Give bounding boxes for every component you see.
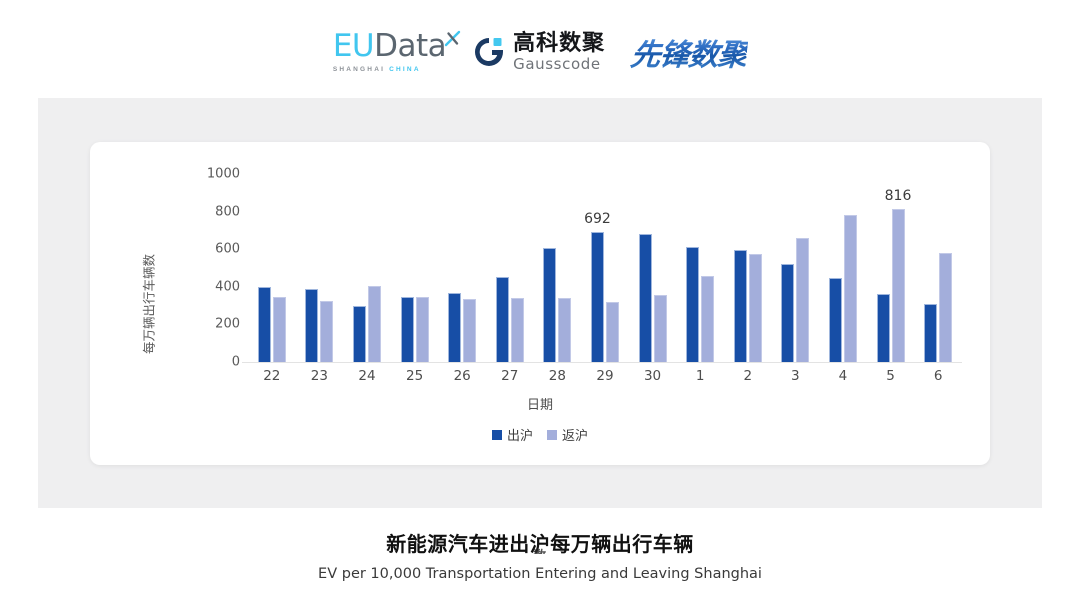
bar-back[interactable]	[654, 295, 667, 362]
x-axis-tick: 29	[581, 368, 629, 384]
bar-out[interactable]	[829, 278, 842, 362]
gausscode-wordmark: 高科数聚 Gausscode	[513, 33, 605, 72]
bar-group: 692	[581, 174, 629, 362]
bar-back[interactable]	[558, 298, 571, 362]
bar-group	[534, 174, 582, 362]
caption: 新能源汽车进出沪每万辆出行车辆 数 EV per 10,000 Transpor…	[0, 528, 1080, 582]
x-axis-tick: 28	[534, 368, 582, 384]
bar-group	[676, 174, 724, 362]
bar-out[interactable]	[401, 297, 414, 362]
evdata-wordmark-ev: EU	[333, 28, 374, 64]
bar-groups: 692816	[248, 174, 962, 362]
x-axis-tick: 6	[914, 368, 962, 384]
legend-swatch-out	[492, 430, 502, 440]
bar-out[interactable]	[305, 289, 318, 362]
x-axis-tick: 1	[676, 368, 724, 384]
x-axis-tick: 23	[296, 368, 344, 384]
y-axis-tick: 1000	[194, 167, 240, 182]
bar-group	[724, 174, 772, 362]
bar-out[interactable]	[543, 248, 556, 362]
bar-group	[772, 174, 820, 362]
bar-group	[391, 174, 439, 362]
x-axis-tick: 4	[819, 368, 867, 384]
x-axis-tick: 30	[629, 368, 677, 384]
gausscode-logo: 高科数聚 Gausscode	[472, 33, 605, 72]
bar-back[interactable]	[416, 297, 429, 362]
bar-group	[819, 174, 867, 362]
bar-group	[296, 174, 344, 362]
bar-back[interactable]	[606, 302, 619, 362]
evdata-tagline: SHANGHAI CHINA	[333, 66, 421, 73]
gausscode-name-cn: 高科数聚	[513, 33, 605, 55]
legend-item-back[interactable]: 返沪	[547, 425, 588, 444]
bar-out[interactable]	[496, 277, 509, 362]
bar-value-label: 816	[885, 188, 912, 204]
legend-swatch-back	[547, 430, 557, 440]
bar-back[interactable]	[273, 297, 286, 362]
evdata-wordmark: EUData	[333, 31, 446, 62]
plot-area: 692816	[248, 174, 962, 362]
x-axis-tick: 27	[486, 368, 534, 384]
bar-out[interactable]	[639, 234, 652, 362]
x-axis-label: 日期	[90, 394, 990, 413]
bar-out[interactable]	[877, 294, 890, 362]
bar-out[interactable]	[781, 264, 794, 362]
gausscode-name-en: Gausscode	[513, 57, 605, 72]
bar-back[interactable]	[463, 299, 476, 362]
x-axis-tick: 2	[724, 368, 772, 384]
bar-value-label: 692	[584, 211, 611, 227]
y-axis-tick: 200	[194, 317, 240, 332]
bar-chart: 每万辆出行车辆数 10008006004002000 692816 222324…	[90, 142, 990, 465]
y-axis-tick: 400	[194, 279, 240, 294]
bar-back[interactable]	[844, 215, 857, 362]
x-axis-tick: 22	[248, 368, 296, 384]
logo-bar: EUData SHANGHAI CHINA 高科数聚 Gausscode 先锋数…	[0, 0, 1080, 96]
bar-out[interactable]	[924, 304, 937, 362]
bar-back[interactable]	[749, 254, 762, 362]
x-axis-tick: 3	[772, 368, 820, 384]
xianfeng-logo: 先锋数聚	[629, 30, 750, 74]
bar-group	[248, 174, 296, 362]
bar-out[interactable]	[353, 306, 366, 362]
x-axis-tick: 5	[867, 368, 915, 384]
caption-title-cn: 新能源汽车进出沪每万辆出行车辆 数	[0, 528, 1080, 557]
chart-panel: 每万辆出行车辆数 10008006004002000 692816 222324…	[38, 98, 1042, 508]
chart-legend: 出沪 返沪	[90, 425, 990, 444]
bar-out[interactable]	[686, 247, 699, 362]
bar-out[interactable]	[734, 250, 747, 362]
x-spark-icon	[444, 22, 461, 39]
bar-group	[486, 174, 534, 362]
bar-back[interactable]	[320, 301, 333, 362]
y-axis-tick: 800	[194, 204, 240, 219]
bar-group	[343, 174, 391, 362]
bar-group	[629, 174, 677, 362]
legend-label-out: 出沪	[507, 425, 533, 444]
x-axis-tick: 25	[391, 368, 439, 384]
caption-ghost-glyph: 数	[533, 545, 547, 554]
y-axis-ticks: 10008006004002000	[194, 142, 240, 465]
evdata-wordmark-data: Data	[374, 28, 446, 64]
x-axis-tick: 24	[343, 368, 391, 384]
bar-back[interactable]	[368, 286, 381, 362]
y-axis-tick: 600	[194, 242, 240, 257]
chart-card: 每万辆出行车辆数 10008006004002000 692816 222324…	[90, 142, 990, 465]
caption-subtitle-en: EV per 10,000 Transportation Entering an…	[0, 566, 1080, 582]
bar-out[interactable]	[258, 287, 271, 362]
bar-group	[914, 174, 962, 362]
bar-back[interactable]: 816	[892, 209, 905, 362]
bar-back[interactable]	[796, 238, 809, 362]
evdata-tagline-city: SHANGHAI	[333, 66, 385, 73]
y-axis-tick: 0	[194, 355, 240, 370]
bar-back[interactable]	[939, 253, 952, 362]
bar-back[interactable]	[511, 298, 524, 362]
evdata-logo: EUData SHANGHAI CHINA	[333, 31, 446, 73]
bar-back[interactable]	[701, 276, 714, 362]
legend-label-back: 返沪	[562, 425, 588, 444]
legend-item-out[interactable]: 出沪	[492, 425, 533, 444]
y-axis-label: 每万辆出行车辆数	[139, 253, 158, 353]
x-axis-ticks: 222324252627282930123456	[248, 368, 962, 384]
bar-group: 816	[867, 174, 915, 362]
x-axis-tick: 26	[438, 368, 486, 384]
bar-out[interactable]: 692	[591, 232, 604, 362]
bar-out[interactable]	[448, 293, 461, 362]
gausscode-g-icon	[472, 35, 506, 69]
bar-group	[438, 174, 486, 362]
evdata-tagline-country: CHINA	[389, 66, 421, 73]
